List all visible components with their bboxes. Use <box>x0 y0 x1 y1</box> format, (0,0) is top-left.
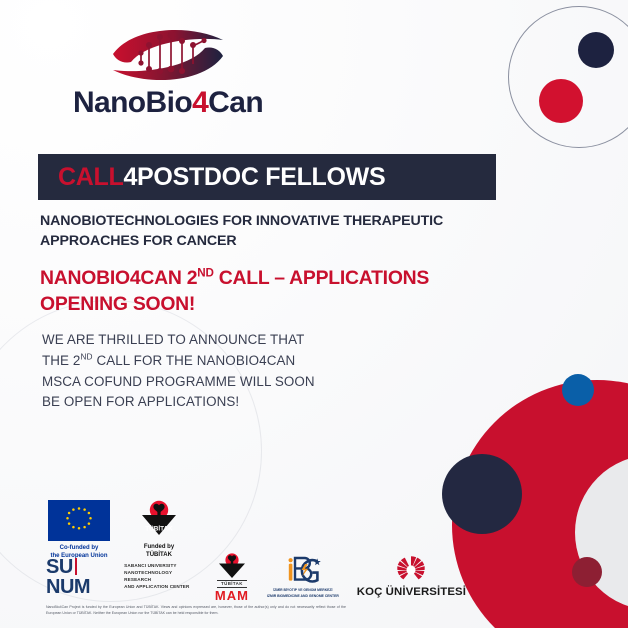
headline-part-1: NANOBIO4CAN 2 <box>40 267 197 289</box>
body-copy-line-2b: CALL FOR THE NANOBIO4CAN <box>93 353 296 368</box>
sunum-word-b: NUM <box>46 576 90 598</box>
sunum-divider <box>75 558 77 575</box>
ibg-caption-line-1: İZMİR BİYOTIP VE GENOM MERKEZİ <box>267 588 339 593</box>
subtitle-text: NANOBIOTECHNOLOGIES FOR INNOVATIVE THERA… <box>40 212 510 251</box>
partner-tubitak-mam: TÜBİTAK MAM <box>215 553 249 602</box>
sunum-word-a: SU <box>46 556 73 578</box>
brand-logo: NanoBio4Can <box>38 24 298 118</box>
partner-sunum: SUNUM SABANCI UNIVERSITY NANOTECHNOLOGY … <box>46 557 197 597</box>
decorative-dot-navy-large <box>442 454 522 534</box>
body-copy-ordinal-suffix: ND <box>80 351 92 361</box>
partner-logo-row: SUNUM SABANCI UNIVERSITY NANOTECHNOLOGY … <box>46 553 466 601</box>
brand-wordmark: NanoBio4Can <box>38 88 298 118</box>
headline-ordinal-suffix: ND <box>197 267 213 280</box>
ibg-caption-line-2: IZMIR BIOMEDICINE AND GENOME CENTER <box>267 594 339 599</box>
sunum-subtitle-line-1: SABANCI UNIVERSITY <box>124 563 197 570</box>
brand-wordmark-nanobio: NanoBio <box>73 86 192 119</box>
decorative-ring-hole <box>575 455 628 610</box>
sunum-subtitle-line-2: NANOTECHNOLOGY RESEARCH <box>124 570 197 584</box>
body-copy: WE ARE THRILLED TO ANNOUNCE THAT THE 2ND… <box>42 330 372 413</box>
koc-university-wordmark: KOÇ ÜNİVERSİTESİ <box>357 587 466 598</box>
body-copy-line-4: BE OPEN FOR APPLICATIONS! <box>42 392 372 413</box>
ibg-logo-icon <box>284 555 322 587</box>
partner-ibg: İZMİR BİYOTIP VE GENOM MERKEZİ IZMIR BIO… <box>267 555 339 598</box>
title-banner-text: CALL4POSTDOC FELLOWS <box>58 163 385 192</box>
brand-wordmark-four: 4 <box>192 86 208 119</box>
funder-tubitak: TÜBİTAK Funded by TÜBİTAK <box>136 500 182 559</box>
body-copy-line-1: WE ARE THRILLED TO ANNOUNCE THAT <box>42 330 372 351</box>
dna-circuit-eye-icon <box>107 24 229 86</box>
headline-text: NANOBIO4CAN 2ND CALL – APPLICATIONS OPEN… <box>40 266 510 318</box>
decorative-dot-navy-top <box>578 32 614 68</box>
funder-european-union: Co-funded by the European Union <box>48 500 110 560</box>
partner-koc-university: KOÇ ÜNİVERSİTESİ <box>357 555 466 598</box>
funder-logo-row: Co-funded by the European Union TÜBİTAK … <box>48 500 182 560</box>
decorative-dot-blue <box>562 374 594 406</box>
tubitak-mam-top-label: TÜBİTAK <box>217 580 247 588</box>
tubitak-funding-caption-line-1: Funded by <box>136 543 182 551</box>
tubitak-mam-logo-icon <box>215 553 249 579</box>
decorative-dot-maroon <box>572 557 602 587</box>
title-banner-highlight: CALL <box>58 163 123 191</box>
decorative-ring-red <box>452 380 628 628</box>
body-copy-line-2: THE 2ND CALL FOR THE NANOBIO4CAN <box>42 351 372 372</box>
decorative-arc-top <box>508 6 628 148</box>
eu-funding-caption-line-1: Co-funded by <box>48 544 110 552</box>
poster-canvas: NanoBio4Can CALL4POSTDOC FELLOWS NANOBIO… <box>0 0 628 628</box>
sunum-subtitle: SABANCI UNIVERSITY NANOTECHNOLOGY RESEAR… <box>124 563 197 591</box>
funding-disclaimer: NanoBio4Can Project is funded by the Eur… <box>46 604 346 616</box>
sunum-logo-icon: SUNUM <box>46 557 119 597</box>
tubitak-wordmark: TÜBİTAK <box>145 524 173 533</box>
body-copy-line-3: MSCA COFUND PROGRAMME WILL SOON <box>42 372 372 393</box>
tubitak-mam-wordmark: MAM <box>215 589 249 602</box>
ibg-caption: İZMİR BİYOTIP VE GENOM MERKEZİ IZMIR BIO… <box>267 588 339 598</box>
eu-flag-icon <box>48 500 110 541</box>
title-banner-rest: 4POSTDOC FELLOWS <box>123 163 385 191</box>
sunum-subtitle-line-3: AND APPLICATION CENTER <box>124 584 197 591</box>
decorative-dot-red-top <box>539 79 583 123</box>
title-banner: CALL4POSTDOC FELLOWS <box>38 154 496 200</box>
tubitak-logo-icon: TÜBİTAK <box>136 500 182 540</box>
body-copy-line-2a: THE 2 <box>42 353 80 368</box>
brand-wordmark-can: Can <box>208 86 263 119</box>
koc-university-logo-icon <box>390 555 432 585</box>
